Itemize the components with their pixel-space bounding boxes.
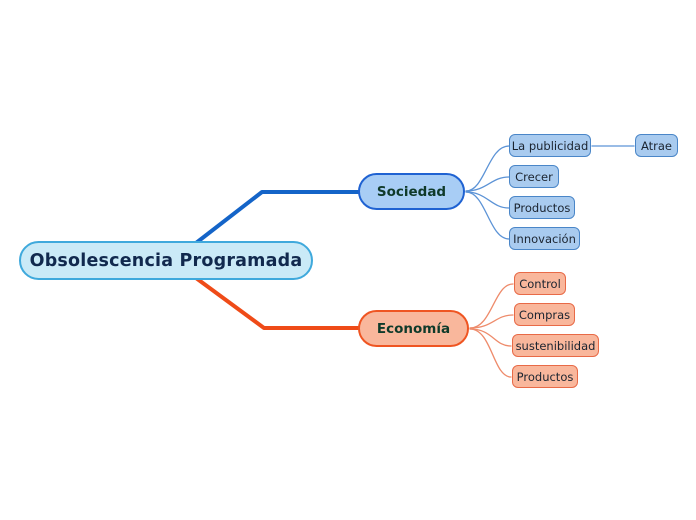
node-leaf-innovacion[interactable]: Innovación — [509, 227, 580, 250]
node-leaf-control[interactable]: Control — [514, 272, 566, 295]
edge-root-to-economia — [196, 278, 360, 328]
node-leaf-productos-sociedad[interactable]: Productos — [509, 196, 575, 219]
node-leaf-compras-label: Compras — [519, 308, 570, 322]
mind-map-canvas: Obsolescencia Programada Sociedad Econom… — [0, 0, 696, 520]
node-branch-economia-label: Economía — [377, 321, 450, 337]
node-leaf-atrae-label: Atrae — [641, 139, 672, 153]
node-leaf-la-publicidad-label: La publicidad — [512, 139, 589, 153]
node-branch-economia[interactable]: Economía — [358, 310, 469, 347]
edge-economia-to-sustenibilidad — [470, 329, 511, 346]
node-leaf-sustenibilidad-label: sustenibilidad — [516, 339, 596, 353]
node-leaf-innovacion-label: Innovación — [513, 232, 576, 246]
node-leaf-crecer[interactable]: Crecer — [509, 165, 559, 188]
node-root-label: Obsolescencia Programada — [30, 251, 303, 271]
node-leaf-sustenibilidad[interactable]: sustenibilidad — [512, 334, 599, 357]
node-leaf-la-publicidad[interactable]: La publicidad — [509, 134, 591, 157]
edge-economia-to-control — [470, 284, 513, 328]
node-branch-sociedad-label: Sociedad — [377, 184, 446, 200]
node-leaf-crecer-label: Crecer — [515, 170, 553, 184]
node-leaf-productos-sociedad-label: Productos — [514, 201, 571, 215]
node-branch-sociedad[interactable]: Sociedad — [358, 173, 465, 210]
node-leaf-atrae[interactable]: Atrae — [635, 134, 678, 157]
node-leaf-productos-economia-label: Productos — [517, 370, 574, 384]
node-leaf-productos-economia[interactable]: Productos — [512, 365, 578, 388]
node-root[interactable]: Obsolescencia Programada — [19, 241, 313, 280]
node-leaf-control-label: Control — [519, 277, 561, 291]
edge-root-to-sociedad — [196, 192, 360, 243]
node-leaf-compras[interactable]: Compras — [514, 303, 575, 326]
